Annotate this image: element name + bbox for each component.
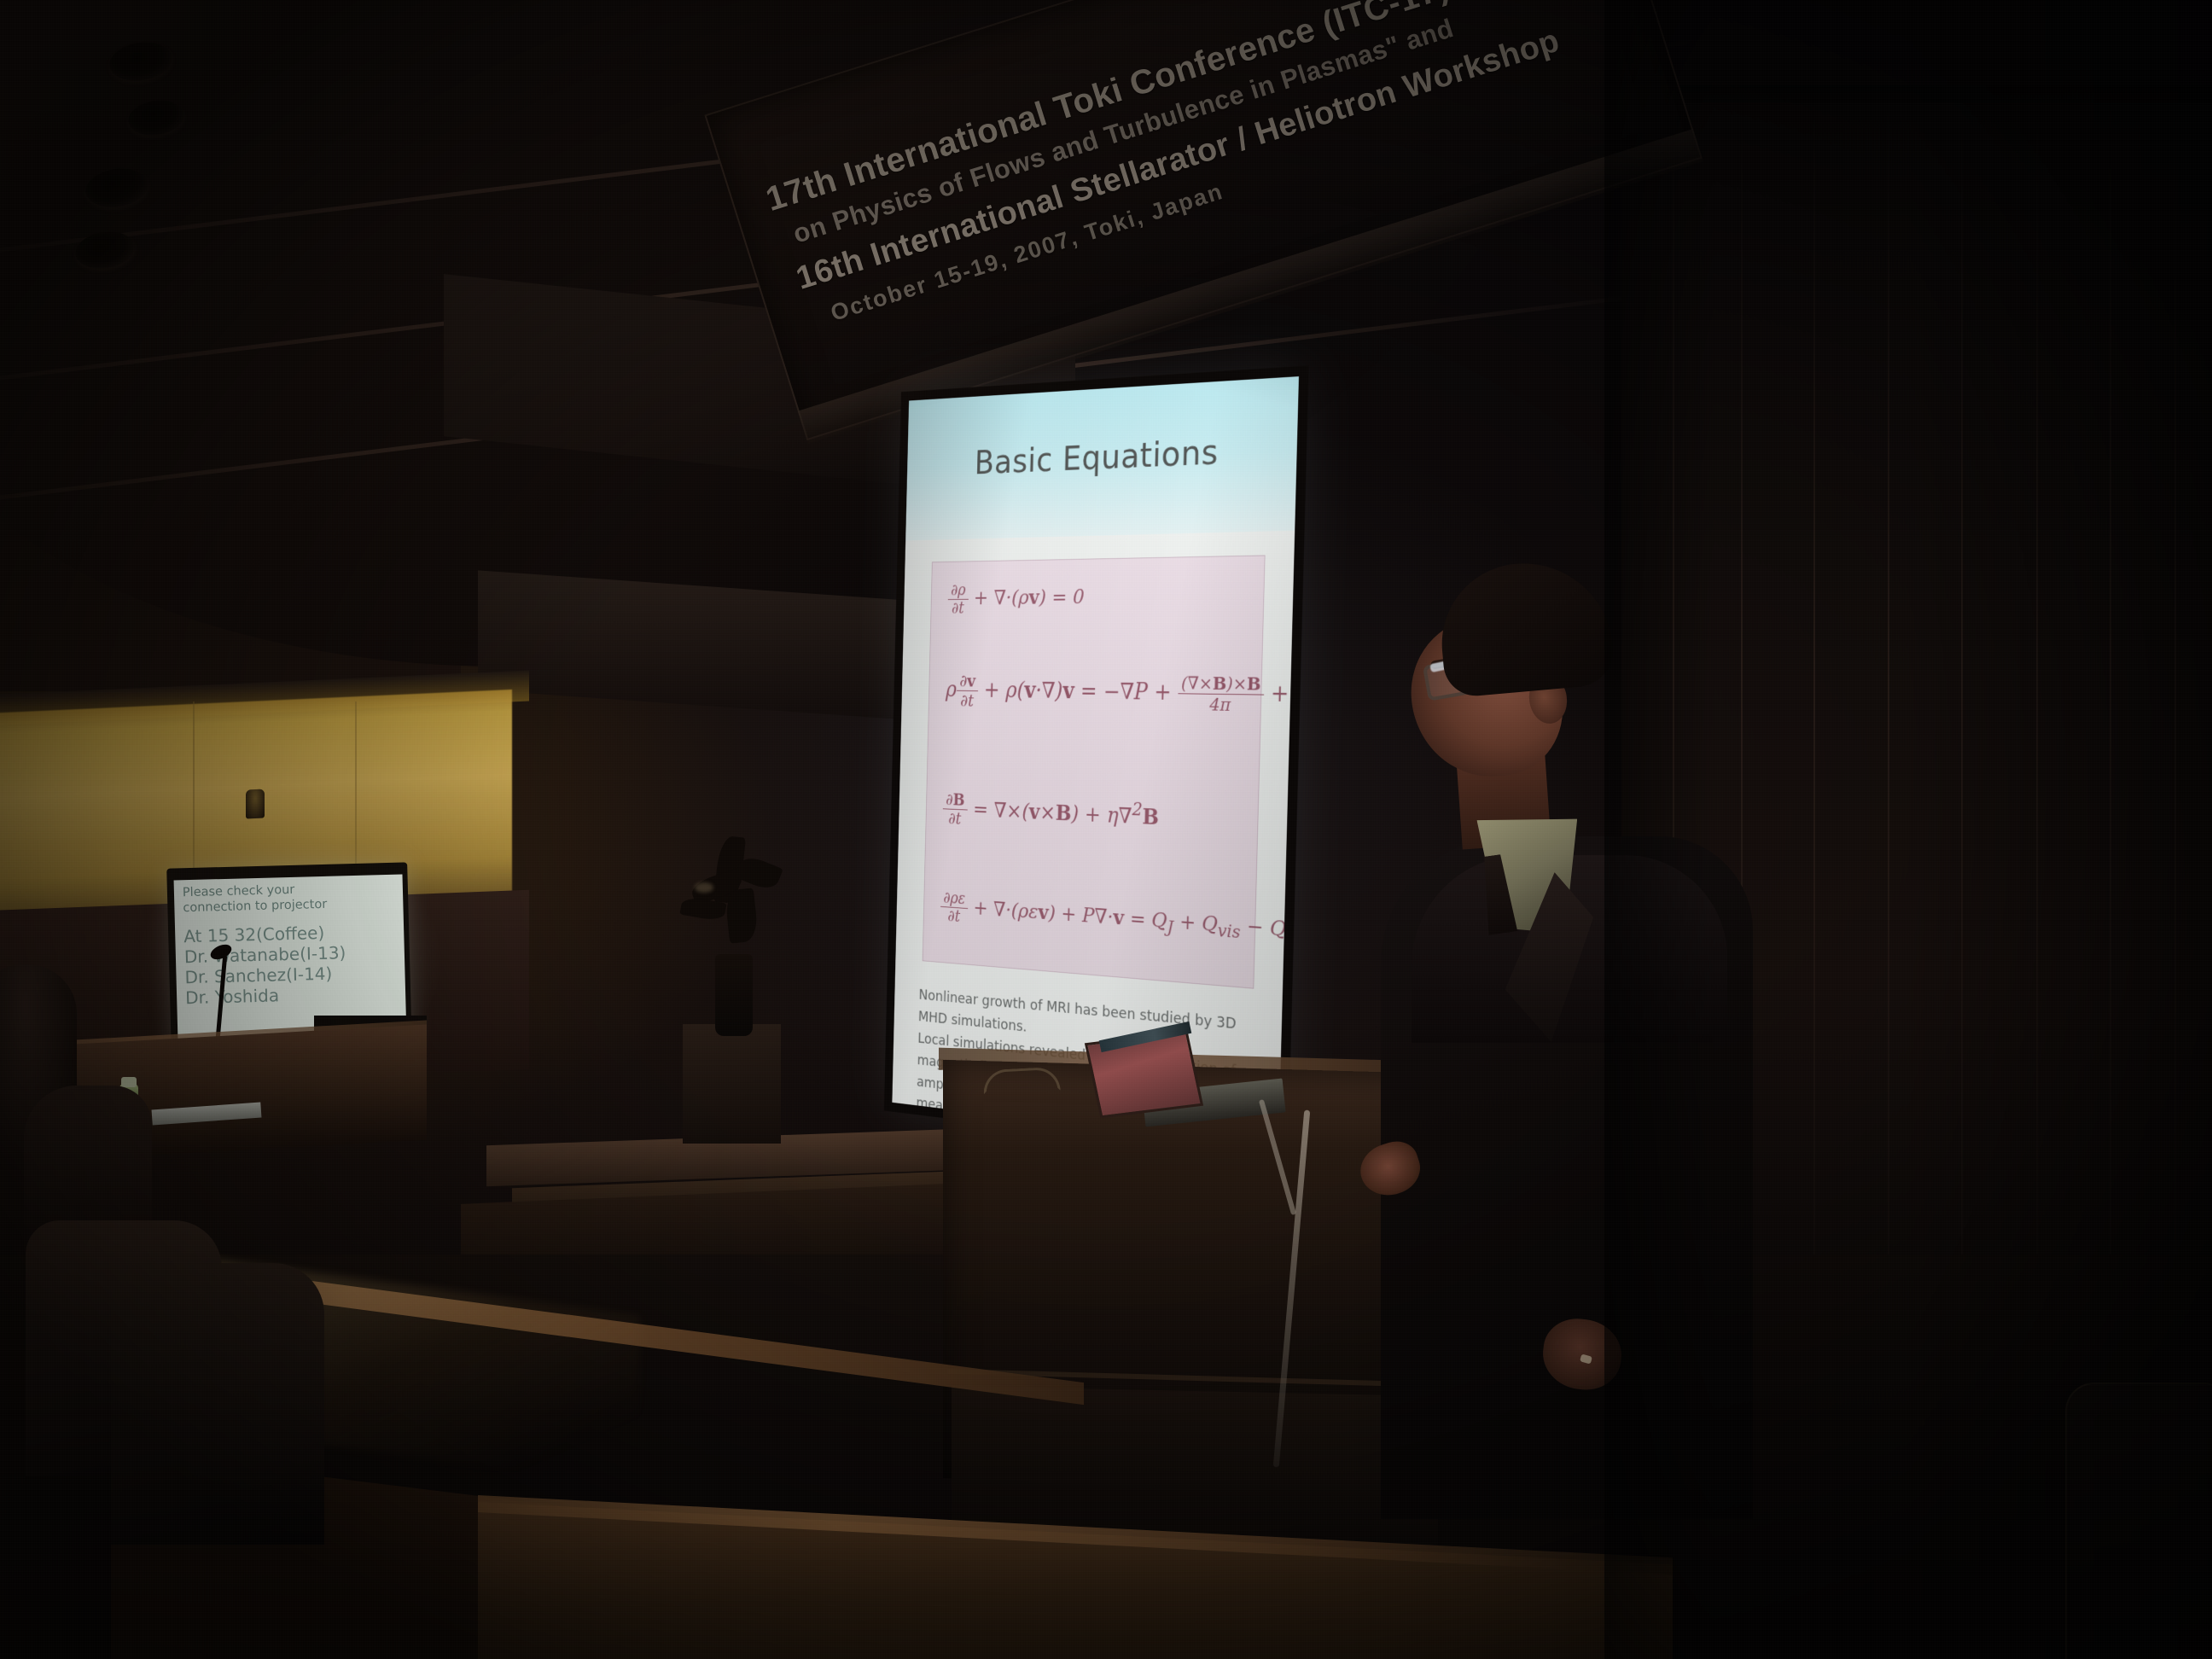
auditorium-chair[interactable]	[111, 1263, 324, 1545]
screen-surface: Basic Equations ∂ρ∂t + ∇·(ρv) = 0 ρ∂v∂t …	[892, 375, 1299, 1151]
equation-momentum: ρ∂v∂t + ρ(v·∇)v = −∇P + (∇×B)×B4π + ρg	[946, 672, 1249, 715]
auditorium-scene: 17th International Toki Conference (ITC-…	[0, 0, 2212, 1659]
projection-screen: Basic Equations ∂ρ∂t + ∇·(ρv) = 0 ρ∂v∂t …	[892, 375, 1299, 1151]
equation-induction: ∂B∂t = ∇×(v×B) + η∇2B	[942, 791, 1245, 841]
equation-box: ∂ρ∂t + ∇·(ρv) = 0 ρ∂v∂t + ρ(v·∇)v = −∇P …	[923, 555, 1266, 988]
monitor-text: Please check your connection to projecto…	[183, 880, 403, 1008]
floral-arrangement	[676, 836, 795, 973]
equation-continuity: ∂ρ∂t + ∇·(ρv) = 0	[947, 579, 1251, 618]
auditorium-chair[interactable]	[2065, 1382, 2212, 1659]
wall-sconce-icon	[246, 789, 265, 819]
pedestal	[683, 1024, 781, 1144]
equation-energy: ∂ρε∂t + ∇·(ρεv) + P∇·v = QJ + Qvis − Qra…	[940, 890, 1243, 946]
presenter	[1400, 555, 1758, 1519]
flower-highlight	[695, 882, 713, 893]
presenter-hair	[1435, 556, 1616, 699]
slide: Basic Equations ∂ρ∂t + ∇·(ρv) = 0 ρ∂v∂t …	[892, 375, 1299, 1151]
bottle-cap-icon	[121, 1077, 137, 1087]
